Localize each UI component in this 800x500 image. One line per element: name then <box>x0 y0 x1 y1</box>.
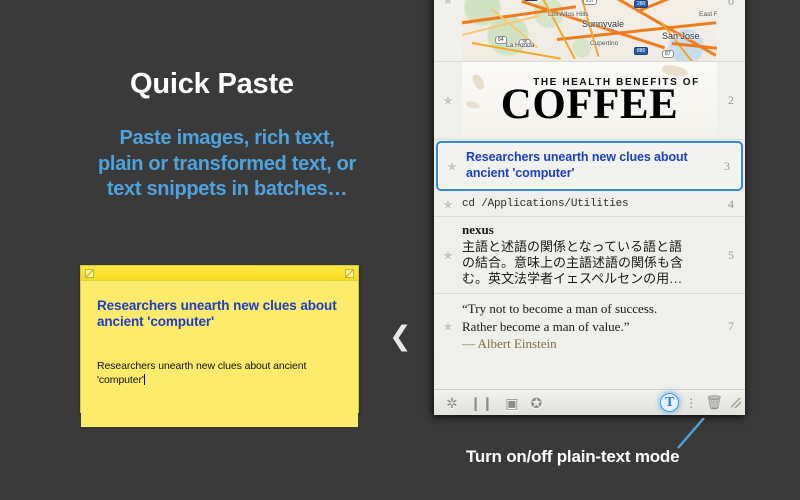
star-icon[interactable]: ★ <box>434 249 462 262</box>
star-icon[interactable]: ★ <box>434 0 462 61</box>
page-subtitle: Paste images, rich text, plain or transf… <box>62 126 392 203</box>
plain-text-mode-toggle[interactable]: T <box>660 393 679 412</box>
route-shield: 101 <box>524 0 538 1</box>
clipboard-item-text: Researchers unearth new clues about anci… <box>466 143 713 189</box>
route-shield: 280 <box>634 0 648 8</box>
clipboard-item-content: nexus 主語と述語の関係となっている語と語 の結合。意味上の主語述語の関係も… <box>462 217 717 293</box>
delete-icon[interactable]: 🗑 <box>705 394 723 411</box>
clipboard-item-content: Researchers unearth new clues about anci… <box>466 143 713 189</box>
note-plain-text[interactable]: Researchers unearth new clues about anci… <box>97 360 342 388</box>
gear-icon[interactable]: ✲ <box>446 396 458 410</box>
star-icon[interactable]: ★ <box>434 198 462 211</box>
list-item[interactable]: ★ THE HEALTH BENEFITS OF COFFEE 2 <box>434 62 745 140</box>
clipboard-item-content: THE HEALTH BENEFITS OF COFFEE <box>462 62 717 139</box>
sticky-note-titlebar[interactable] <box>81 266 358 281</box>
dictionary-line: む。英文法学者イェスペルセンの用… <box>462 271 713 287</box>
clipboard-item-content: “Try not to become a man of success. Rat… <box>462 294 717 359</box>
text-caret <box>144 374 145 385</box>
screenshot-root: Quick Paste Paste images, rich text, pla… <box>0 0 800 500</box>
dictionary-line: の結合。意味上の主語述語の関係も含 <box>462 255 713 271</box>
star-icon[interactable]: ★ <box>434 320 462 333</box>
clipboard-item-text: cd /Applications/Utilities <box>462 192 717 216</box>
subtitle-line-2: plain or transformed text, or <box>62 152 392 178</box>
route-shield: 87 <box>662 50 674 58</box>
left-chevron-icon: ❮ <box>389 323 412 350</box>
item-index: 7 <box>717 319 745 334</box>
quote-line: “Try not to become a man of success. <box>462 300 713 317</box>
sticky-note-window[interactable]: Researchers unearth new clues about anci… <box>80 265 359 413</box>
resize-corner-icon[interactable] <box>85 269 94 278</box>
map-thumbnail: 84 35 237 280 880 87 101 Los Altos Hills… <box>462 0 717 61</box>
note-rich-text: Researchers unearth new clues about anci… <box>97 298 342 331</box>
page-title: Quick Paste <box>130 68 294 101</box>
list-item[interactable]: ★ “Try not to become a man of success. R… <box>434 294 745 359</box>
map-label: Los Altos Hills <box>548 11 588 18</box>
clipboard-item-content: 84 35 237 280 880 87 101 Los Altos Hills… <box>462 0 717 61</box>
dictionary-term: nexus <box>462 222 713 238</box>
dictionary-line: 主語と述語の関係となっている語と語 <box>462 239 713 255</box>
list-item[interactable]: ★ cd /Applications/Utilities 4 <box>434 192 745 217</box>
star-icon[interactable]: ★ <box>434 62 462 139</box>
item-index: 3 <box>713 159 741 174</box>
item-index: 0 <box>717 0 745 61</box>
coffee-title: COFFEE <box>501 83 678 126</box>
route-shield: 237 <box>583 0 597 5</box>
resize-corner-icon[interactable] <box>345 269 354 278</box>
item-index: 4 <box>717 197 745 212</box>
more-options-icon[interactable]: ⋮ <box>685 396 697 410</box>
clipboard-history-panel[interactable]: ★ 84 <box>434 0 745 415</box>
quote-attribution: — Albert Einstein <box>462 335 713 352</box>
callout-label: Turn on/off plain-text mode <box>466 447 679 467</box>
list-item[interactable]: ★ nexus 主語と述語の関係となっている語と語 の結合。意味上の主語述語の関… <box>434 217 745 294</box>
panel-toolbar[interactable]: ✲ ❙❙ ▣ ✪ T ⋮ 🗑 <box>434 389 745 415</box>
subtitle-line-1: Paste images, rich text, <box>62 126 392 152</box>
list-item[interactable]: ★ 84 <box>434 0 745 62</box>
map-label: Cupertino <box>590 40 618 47</box>
route-shield: 84 <box>495 36 507 44</box>
add-snippet-icon[interactable]: ✪ <box>530 396 542 410</box>
note-plain-text-value: Researchers unearth new clues about anci… <box>97 360 306 386</box>
item-index: 2 <box>717 62 745 139</box>
map-label: La Honda <box>506 42 534 49</box>
camera-icon[interactable]: ▣ <box>505 396 518 410</box>
pause-icon[interactable]: ❙❙ <box>470 396 493 410</box>
list-item-selected[interactable]: ★ Researchers unearth new clues about an… <box>436 141 743 191</box>
resize-grip-icon[interactable] <box>731 398 741 408</box>
quote-line: Rather become a man of value.” <box>462 318 713 335</box>
star-icon[interactable]: ★ <box>438 160 466 173</box>
clipboard-item-list[interactable]: ★ 84 <box>434 0 745 389</box>
item-index: 5 <box>717 248 745 263</box>
subtitle-line-3: text snippets in batches… <box>62 177 392 203</box>
route-shield: 880 <box>634 47 648 55</box>
coffee-article-thumbnail: THE HEALTH BENEFITS OF COFFEE <box>462 62 717 139</box>
plain-text-icon: T <box>665 396 674 410</box>
map-label: Sunnyvale <box>582 19 624 29</box>
clipboard-item-text: nexus 主語と述語の関係となっている語と語 の結合。意味上の主語述語の関係も… <box>462 217 717 293</box>
map-label: San Jose <box>662 31 700 41</box>
map-label: East Foo <box>699 11 717 18</box>
clipboard-item-text: “Try not to become a man of success. Rat… <box>462 294 717 359</box>
clipboard-item-content: cd /Applications/Utilities <box>462 192 717 216</box>
sticky-note-body[interactable]: Researchers unearth new clues about anci… <box>81 281 358 427</box>
